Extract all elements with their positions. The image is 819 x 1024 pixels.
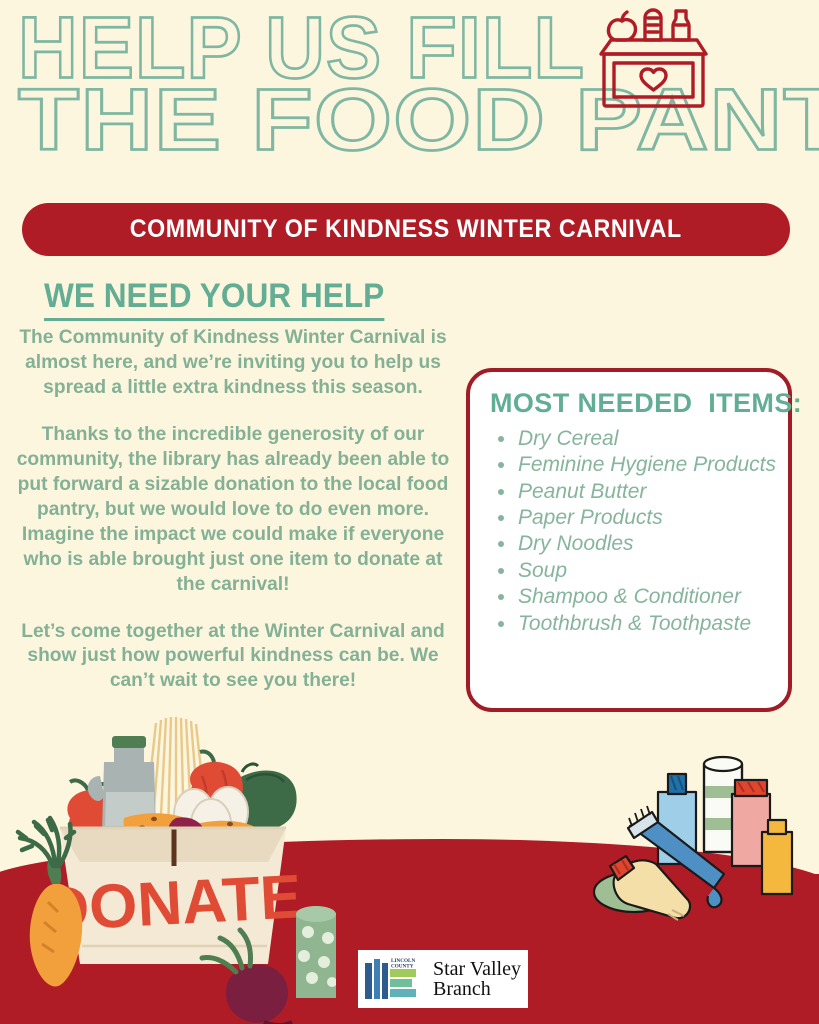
list-item-label: Feminine Hygiene Products [518, 453, 776, 476]
page-title: HELP US FILL THE FOOD PANTRIES [18, 8, 638, 152]
list-item: Feminine Hygiene Products [484, 453, 778, 477]
list-item-label: Toothbrush & Toothpaste [518, 612, 751, 635]
list-item-label: Dry Cereal [518, 427, 618, 450]
bullet-icon [498, 462, 504, 468]
banner: COMMUNITY OF KINDNESS WINTER CARNIVAL [22, 203, 790, 256]
bullet-icon [498, 436, 504, 442]
bullet-icon [498, 489, 504, 495]
list-item: Peanut Butter [484, 480, 778, 504]
logo-branch-line-1: Star Valley [433, 959, 521, 979]
banner-text: COMMUNITY OF KINDNESS WINTER CARNIVAL [130, 215, 682, 244]
logo-branch-line-2: Branch [433, 979, 521, 999]
library-logo-text: Star Valley Branch [433, 959, 521, 1000]
bullet-icon [498, 568, 504, 574]
logo-system-line-2: COUNTY [391, 964, 414, 970]
list-item: Dry Cereal [484, 427, 778, 451]
bullet-icon [498, 594, 504, 600]
body-paragraph-2: Thanks to the incredible generosity of o… [10, 423, 456, 598]
pantry-box-heart-icon [593, 6, 711, 110]
most-needed-items-list: Dry Cereal Feminine Hygiene Products Pea… [484, 427, 778, 636]
list-item: Soup [484, 559, 778, 583]
list-item: Toothbrush & Toothpaste [484, 612, 778, 636]
list-item-label: Peanut Butter [518, 480, 646, 503]
most-needed-items-title: MOST NEEDED ITEMS: [490, 388, 778, 419]
list-item-label: Soup [518, 559, 567, 582]
list-item: Dry Noodles [484, 532, 778, 556]
body-paragraph-3: Let’s come together at the Winter Carniv… [10, 620, 456, 695]
bullet-icon [498, 515, 504, 521]
subhead: WE NEED YOUR HELP [44, 277, 384, 321]
most-needed-items-card: MOST NEEDED ITEMS: Dry Cereal Feminine H… [466, 368, 792, 712]
body-copy: The Community of Kindness Winter Carniva… [10, 326, 456, 694]
poster-root: HELP US FILL THE FOOD PANTRIES COMMUNITY… [0, 0, 819, 1024]
toiletries-illustration [572, 742, 819, 942]
donate-box-groceries-illustration: DONATE [0, 706, 336, 1024]
bullet-icon [498, 621, 504, 627]
library-logo-mark: LINCOLN COUNTY [364, 957, 426, 1001]
list-item-label: Dry Noodles [518, 532, 634, 555]
bullet-icon [498, 541, 504, 547]
list-item-label: Shampoo & Conditioner [518, 585, 741, 608]
library-logo: LINCOLN COUNTY Star Valley Branch [358, 950, 528, 1008]
list-item: Paper Products [484, 506, 778, 530]
list-item: Shampoo & Conditioner [484, 585, 778, 609]
body-paragraph-1: The Community of Kindness Winter Carniva… [10, 326, 456, 401]
list-item-label: Paper Products [518, 506, 663, 529]
